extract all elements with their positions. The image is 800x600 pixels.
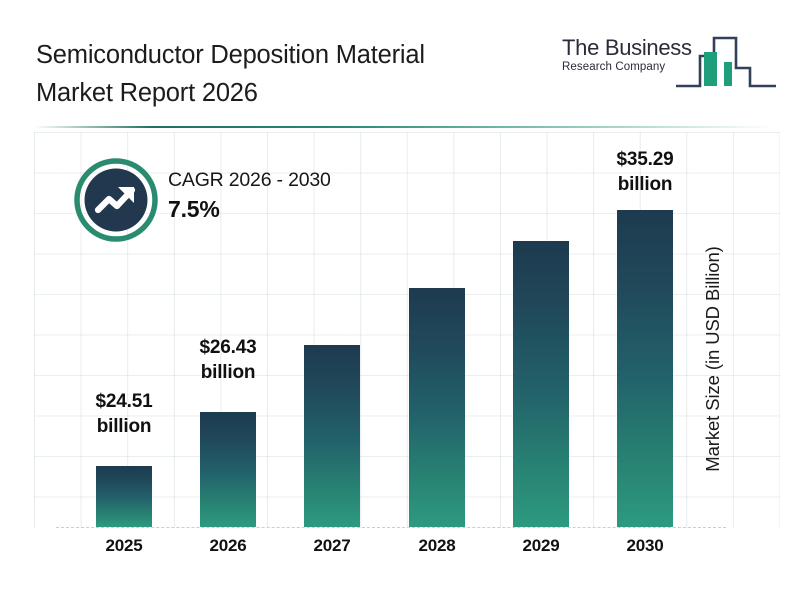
- bar-2029[interactable]: [513, 241, 569, 527]
- value-amount: $26.43: [185, 335, 271, 360]
- value-unit: billion: [602, 172, 688, 197]
- value-label-2030: $35.29 billion: [602, 147, 688, 197]
- value-amount: $35.29: [602, 147, 688, 172]
- bar-series: [0, 0, 800, 600]
- bar-2026[interactable]: [200, 412, 256, 527]
- bar-2030[interactable]: [617, 210, 673, 527]
- x-axis-label-2027: 2027: [289, 536, 375, 556]
- value-label-2025: $24.51 billion: [81, 389, 167, 439]
- x-axis-label-2026: 2026: [185, 536, 271, 556]
- bar-2027[interactable]: [304, 345, 360, 527]
- trending-up-icon: [74, 158, 158, 242]
- x-axis-label-2029: 2029: [498, 536, 584, 556]
- y-axis-title: Market Size (in USD Billion): [700, 0, 730, 200]
- x-axis-label-2030: 2030: [602, 536, 688, 556]
- y-axis-title-text: Market Size (in USD Billion): [702, 200, 724, 518]
- chart-infographic: Semiconductor Deposition Material Market…: [0, 0, 800, 600]
- bar-2025[interactable]: [96, 466, 152, 527]
- value-unit: billion: [81, 414, 167, 439]
- cagr-range-label: CAGR 2026 - 2030: [168, 167, 384, 193]
- value-unit: billion: [185, 360, 271, 385]
- cagr-callout: CAGR 2026 - 2030 7.5%: [74, 158, 384, 242]
- value-amount: $24.51: [81, 389, 167, 414]
- cagr-text-block: CAGR 2026 - 2030 7.5%: [168, 167, 384, 225]
- cagr-value: 7.5%: [168, 193, 384, 225]
- x-axis-label-2028: 2028: [394, 536, 480, 556]
- x-axis-label-2025: 2025: [81, 536, 167, 556]
- value-label-2026: $26.43 billion: [185, 335, 271, 385]
- bar-2028[interactable]: [409, 288, 465, 527]
